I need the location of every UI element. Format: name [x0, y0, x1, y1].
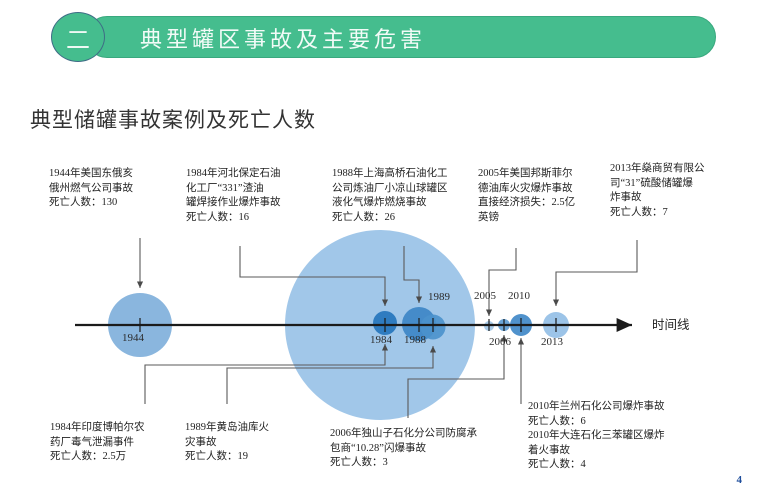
note-2010-lanzhou-dalian: 2010年兰州石化公司爆炸事故 死亡人数：6 2010年大连石化三苯罐区爆炸 着… — [528, 400, 743, 473]
note-2013-sang: 2013年燊商贸有限公 司“31”硫酸储罐爆 炸事故 死亡人数：7 — [610, 162, 735, 220]
page-number: 4 — [737, 474, 743, 486]
note-1984-baoding: 1984年河北保定石油 化工厂“331”渣油 罐焊接作业爆炸事故 死亡人数：16 — [186, 167, 326, 225]
axis-year-1984: 1984 — [370, 334, 392, 346]
axis-year-2010: 2010 — [508, 290, 530, 302]
note-2006-dushanzi: 2006年独山子石化分公司防腐承 包商“10.28”闪爆事故 死亡人数：3 — [330, 427, 530, 471]
leader-2013-sang — [556, 240, 637, 306]
axis-year-1944: 1944 — [122, 332, 144, 344]
axis-year-2013: 2013 — [541, 336, 563, 348]
note-1944: 1944年美国东俄亥 俄州燃气公司事故 死亡人数：130 — [49, 167, 184, 211]
note-1989-huangdao: 1989年黄岛油库火 灾事故 死亡人数：19 — [185, 421, 310, 465]
note-2005-buncefield: 2005年美国邦斯菲尔 德油库火灾爆炸事故 直接经济损失：2.5亿 英镑 — [478, 167, 603, 225]
axis-year-1989: 1989 — [428, 291, 450, 303]
note-1984-bhopal: 1984年印度博帕尔农 药厂毒气泄漏事件 死亡人数：2.5万 — [50, 421, 190, 465]
axis-year-1988: 1988 — [404, 334, 426, 346]
note-1988-shanghai: 1988年上海高桥石油化工 公司炼油厂小凉山球罐区 液化气爆炸燃烧事故 死亡人数… — [332, 167, 487, 225]
slide-canvas: 二 典型罐区事故及主要危害 典型储罐事故案例及死亡人数 — [0, 0, 767, 494]
axis-year-2006: 2006 — [489, 336, 511, 348]
leader-2005-buncefield — [489, 248, 516, 316]
axis-year-2005: 2005 — [474, 290, 496, 302]
timeline-axis-label: 时间线 — [652, 314, 690, 333]
